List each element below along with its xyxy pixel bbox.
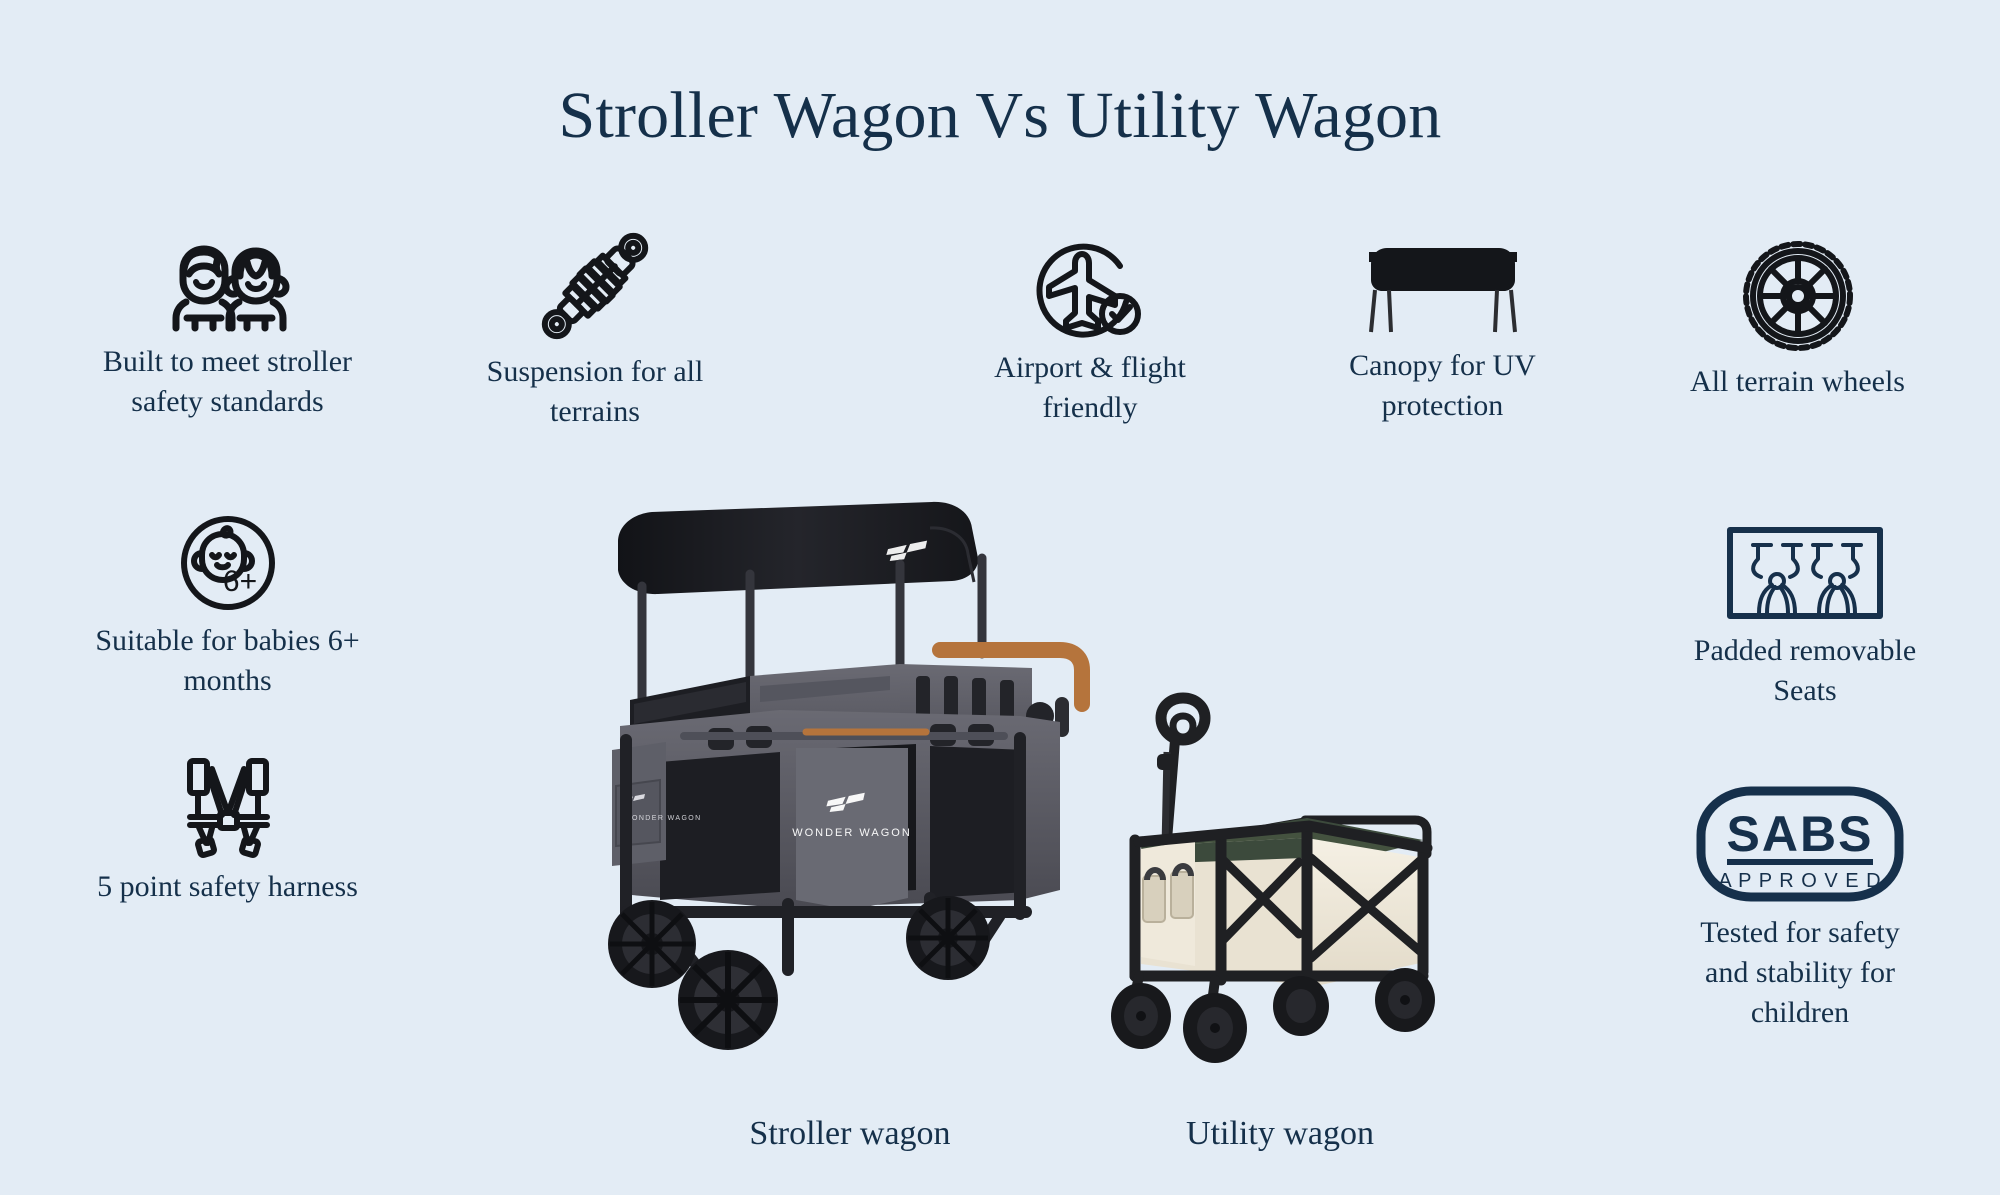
feature-five-point-harness-label: 5 point safety harness — [25, 867, 430, 907]
stroller-brand-flap: WONDER WAGON — [792, 827, 912, 839]
canopy-icon — [1245, 240, 1640, 336]
wheel-icon — [1600, 240, 1995, 352]
sabs-sub-text: A P P R O V E D — [1718, 870, 1881, 892]
page-title: Stroller Wagon Vs Utility Wagon — [0, 78, 2000, 154]
feature-padded-seats: Padded removable Seats — [1610, 525, 2000, 711]
infographic-canvas: Stroller Wagon Vs Utility Wagon — [0, 0, 2000, 1195]
feature-canopy-uv: Canopy for UV protection — [1245, 240, 1640, 426]
feature-sabs-approved: SABS A P P R O V E D Tested for safety a… — [1600, 785, 2000, 1033]
feature-sabs-approved-label: Tested for safety and stability for chil… — [1600, 913, 2000, 1033]
feature-safety-standards-label: Built to meet stroller safety standards — [25, 342, 430, 422]
feature-all-terrain-wheels: All terrain wheels — [1600, 240, 1995, 402]
feature-airport-friendly: Airport & flight friendly — [900, 240, 1280, 428]
feature-suspension: Suspension for all terrains — [400, 230, 790, 432]
padded-seats-icon — [1610, 525, 2000, 621]
feature-safety-standards: Built to meet stroller safety standards — [25, 240, 430, 422]
feature-babies-6plus-label: Suitable for babies 6+ months — [25, 621, 430, 701]
feature-suspension-label: Suspension for all terrains — [400, 352, 790, 432]
feature-babies-6plus: 6+ Suitable for babies 6+ months — [25, 515, 430, 701]
sabs-main-text: SABS — [1727, 806, 1874, 862]
utility-wagon-image — [1105, 690, 1455, 1070]
baby-face-6plus-icon: 6+ — [25, 515, 430, 611]
feature-five-point-harness: 5 point safety harness — [25, 755, 430, 907]
age-badge-text: 6+ — [222, 565, 256, 598]
sabs-approved-badge: SABS A P P R O V E D — [1600, 785, 2000, 903]
shock-absorber-icon — [400, 230, 790, 342]
airplane-check-icon — [900, 240, 1280, 338]
stroller-wagon-label: Stroller wagon — [620, 1115, 1080, 1153]
utility-wagon-label: Utility wagon — [1090, 1115, 1470, 1153]
feature-padded-seats-label: Padded removable Seats — [1610, 631, 2000, 711]
stroller-brand-pocket: WONDER WAGON — [624, 815, 702, 822]
feature-airport-friendly-label: Airport & flight friendly — [900, 348, 1280, 428]
feature-canopy-uv-label: Canopy for UV protection — [1245, 346, 1640, 426]
two-children-icon — [25, 240, 430, 332]
feature-all-terrain-wheels-label: All terrain wheels — [1600, 362, 1995, 402]
five-point-harness-icon — [25, 755, 430, 857]
stroller-wagon-image: WONDER WAGON WONDER WAGON — [600, 500, 1120, 1060]
